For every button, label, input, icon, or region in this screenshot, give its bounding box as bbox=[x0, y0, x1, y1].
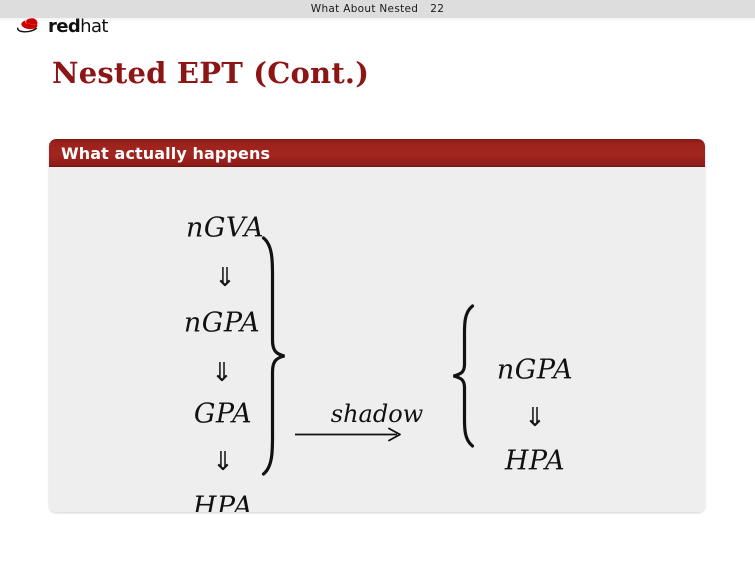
content-block-header: What actually happens bbox=[49, 139, 705, 167]
diagram-arrow-down-1: ⇓ bbox=[214, 265, 236, 291]
slide-header-content: What About Nested 22 bbox=[311, 3, 444, 15]
redhat-shadowman-icon bbox=[16, 15, 46, 37]
slide-header-band: What About Nested 22 bbox=[0, 0, 755, 18]
diagram-arrow-down-2: ⇓ bbox=[211, 360, 233, 386]
header-band-shadow bbox=[0, 18, 755, 21]
content-block-body: nGVA ⇓ nGPA ⇓ GPA ⇓ HPA shadow bbox=[49, 167, 705, 512]
diagram-brace-right bbox=[463, 376, 480, 448]
page-title: Nested EPT (Cont.) bbox=[52, 56, 369, 90]
redhat-logo: redhat bbox=[16, 14, 108, 38]
diagram-term-ngpa-right: nGPA bbox=[497, 355, 573, 386]
diagram-term-hpa-right: HPA bbox=[505, 446, 565, 477]
diagram-term-ngpa-left: nGPA bbox=[184, 308, 260, 339]
content-block-title: What actually happens bbox=[61, 144, 270, 163]
diagram-arrow-down-4: ⇓ bbox=[524, 405, 546, 431]
diagram-transform-label: shadow bbox=[331, 400, 423, 428]
deck-title: What About Nested bbox=[311, 3, 418, 15]
diagram-transform-arrow bbox=[349, 435, 405, 444]
redhat-wordmark: redhat bbox=[48, 18, 108, 36]
diagram-brace-left bbox=[275, 356, 292, 476]
diagram-term-ngva: nGVA bbox=[186, 213, 264, 244]
diagram-term-hpa-left: HPA bbox=[193, 492, 253, 513]
slide-page-number: 22 bbox=[430, 3, 444, 15]
nested-ept-diagram: nGVA ⇓ nGPA ⇓ GPA ⇓ HPA shadow bbox=[49, 167, 705, 512]
logo-word-hat: hat bbox=[80, 16, 108, 37]
diagram-term-gpa: GPA bbox=[194, 399, 252, 430]
diagram-arrow-down-3: ⇓ bbox=[212, 449, 234, 475]
content-block: What actually happens nGVA ⇓ nGPA ⇓ GPA … bbox=[49, 139, 705, 512]
logo-word-red: red bbox=[48, 16, 80, 37]
